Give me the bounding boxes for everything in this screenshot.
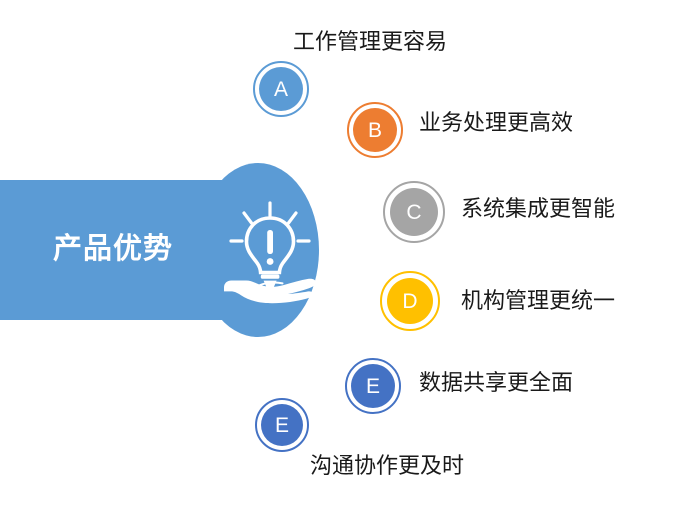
label-e-lower: 沟通协作更及时 [310, 451, 464, 481]
badge-e-lower[interactable]: E [255, 398, 309, 452]
label-d: 机构管理更统一 [461, 286, 615, 316]
badge-b[interactable]: B [347, 102, 403, 158]
product-advantage-banner: 产品优势 [0, 163, 320, 337]
badge-e-upper[interactable]: E [345, 358, 401, 414]
banner-title: 产品优势 [28, 229, 198, 269]
label-b: 业务处理更高效 [419, 108, 573, 138]
label-a: 工作管理更容易 [293, 27, 447, 57]
badge-a[interactable]: A [253, 61, 309, 117]
badge-c[interactable]: C [383, 181, 445, 243]
badge-d[interactable]: D [380, 271, 440, 331]
badge-e-lower-letter: E [261, 404, 303, 446]
label-c: 系统集成更智能 [461, 194, 615, 224]
badge-a-letter: A [259, 67, 303, 111]
badge-d-letter: D [387, 278, 433, 324]
infographic-canvas: 产品优势 [0, 0, 673, 515]
badge-e-upper-letter: E [351, 364, 395, 408]
lightbulb-in-hand-icon [222, 201, 318, 305]
label-e-upper: 数据共享更全面 [419, 368, 573, 398]
badge-c-letter: C [390, 188, 438, 236]
badge-b-letter: B [353, 108, 397, 152]
